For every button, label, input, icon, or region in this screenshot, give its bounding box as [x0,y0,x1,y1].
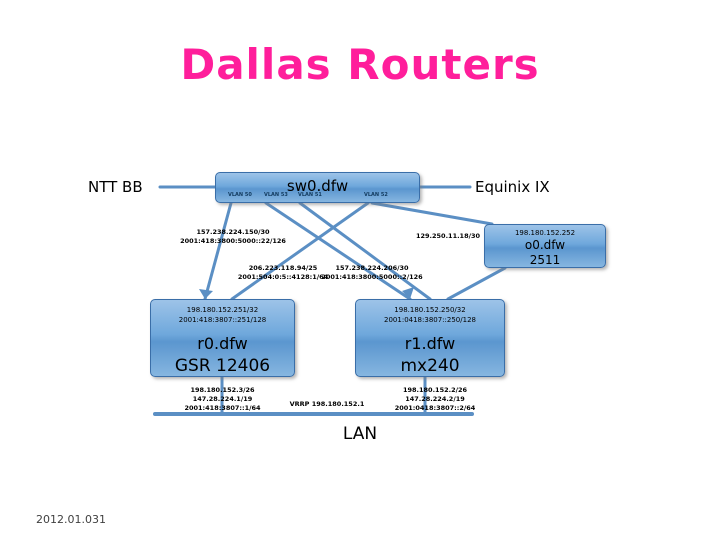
annotation-lan-left: 198.180.152.3/26 147.28.224.1/19 2001:41… [160,386,285,413]
o0-hostname: o0.dfw [485,238,605,253]
annotation-ntt-uplink-2: 157.238.224.206/30 2001:418:3800:5000::2… [312,264,432,282]
annotation-line: 198.180.152.3/26 [160,386,285,395]
node-r0-dfw[interactable]: 198.180.152.251/32 2001:418:3807::251/12… [150,299,295,377]
label-ntt-bb: NTT BB [88,178,143,196]
r1-ipv4: 198.180.152.250/32 [356,305,504,315]
annotation-line: 2001:418:3807::1/64 [160,404,285,413]
annotation-line: 198.180.152.2/26 [370,386,500,395]
annotation-line: 157.238.224.206/30 [312,264,432,273]
o0-ip-address: 198.180.152.252 [485,228,605,238]
link-vlan51-to-r1 [300,203,430,299]
link-vlan50-to-r0 [205,203,231,299]
node-sw0-dfw[interactable]: sw0.dfw VLAN 50 VLAN 53 VLAN 51 VLAN 52 [215,172,420,203]
annotation-line: 157.238.224.150/30 [168,228,298,237]
r1-ipv6: 2001:0418:3807::250/128 [356,315,504,325]
annotation-line: 129.250.11.18/30 [398,232,498,241]
link-o0-to-r1 [448,268,505,299]
slide-footer: 2012.01.031 [36,513,106,526]
link-vlan52-to-o0 [372,203,492,224]
annotation-oob-link: 129.250.11.18/30 [398,232,498,241]
vlan-label-53: VLAN 53 [264,192,288,198]
annotation-line: 147.28.224.1/19 [160,395,285,404]
annotation-line: 2001:418:3800:5000::2/126 [312,273,432,282]
r1-hostname: r1.dfw [356,325,504,355]
label-lan: LAN [0,424,720,444]
label-equinix-ix: Equinix IX [475,178,550,196]
vlan-label-50: VLAN 50 [228,192,252,198]
switch-vlan-row: VLAN 50 VLAN 53 VLAN 51 VLAN 52 [216,192,419,201]
annotation-ntt-uplink: 157.238.224.150/30 2001:418:3800:5000::2… [168,228,298,246]
r0-hostname: r0.dfw [151,325,294,355]
annotation-line: 2001:418:3800:5000::22/126 [168,237,298,246]
vlan-label-52: VLAN 52 [364,192,388,198]
link-vlan53-to-r1 [266,203,410,299]
annotation-line: VRRP 198.180.152.1 [272,400,382,409]
vlan-label-51: VLAN 51 [298,192,322,198]
o0-model: 2511 [485,253,605,267]
node-r1-dfw[interactable]: 198.180.152.250/32 2001:0418:3807::250/1… [355,299,505,377]
node-o0-dfw[interactable]: 198.180.152.252 o0.dfw 2511 [484,224,606,268]
r0-ipv6: 2001:418:3807::251/128 [151,315,294,325]
annotation-line: 147.28.224.2/19 [370,395,500,404]
r1-model: mx240 [356,355,504,377]
slide-canvas: Dallas Routers [0,0,720,540]
r0-ipv4: 198.180.152.251/32 [151,305,294,315]
annotation-line: 2001:0418:3807::2/64 [370,404,500,413]
link-arrowheads [199,287,414,299]
r0-model: GSR 12406 [151,355,294,377]
link-vlan52-to-r0 [232,203,368,299]
annotation-lan-right: 198.180.152.2/26 147.28.224.2/19 2001:04… [370,386,500,413]
annotation-vrrp: VRRP 198.180.152.1 [272,400,382,409]
